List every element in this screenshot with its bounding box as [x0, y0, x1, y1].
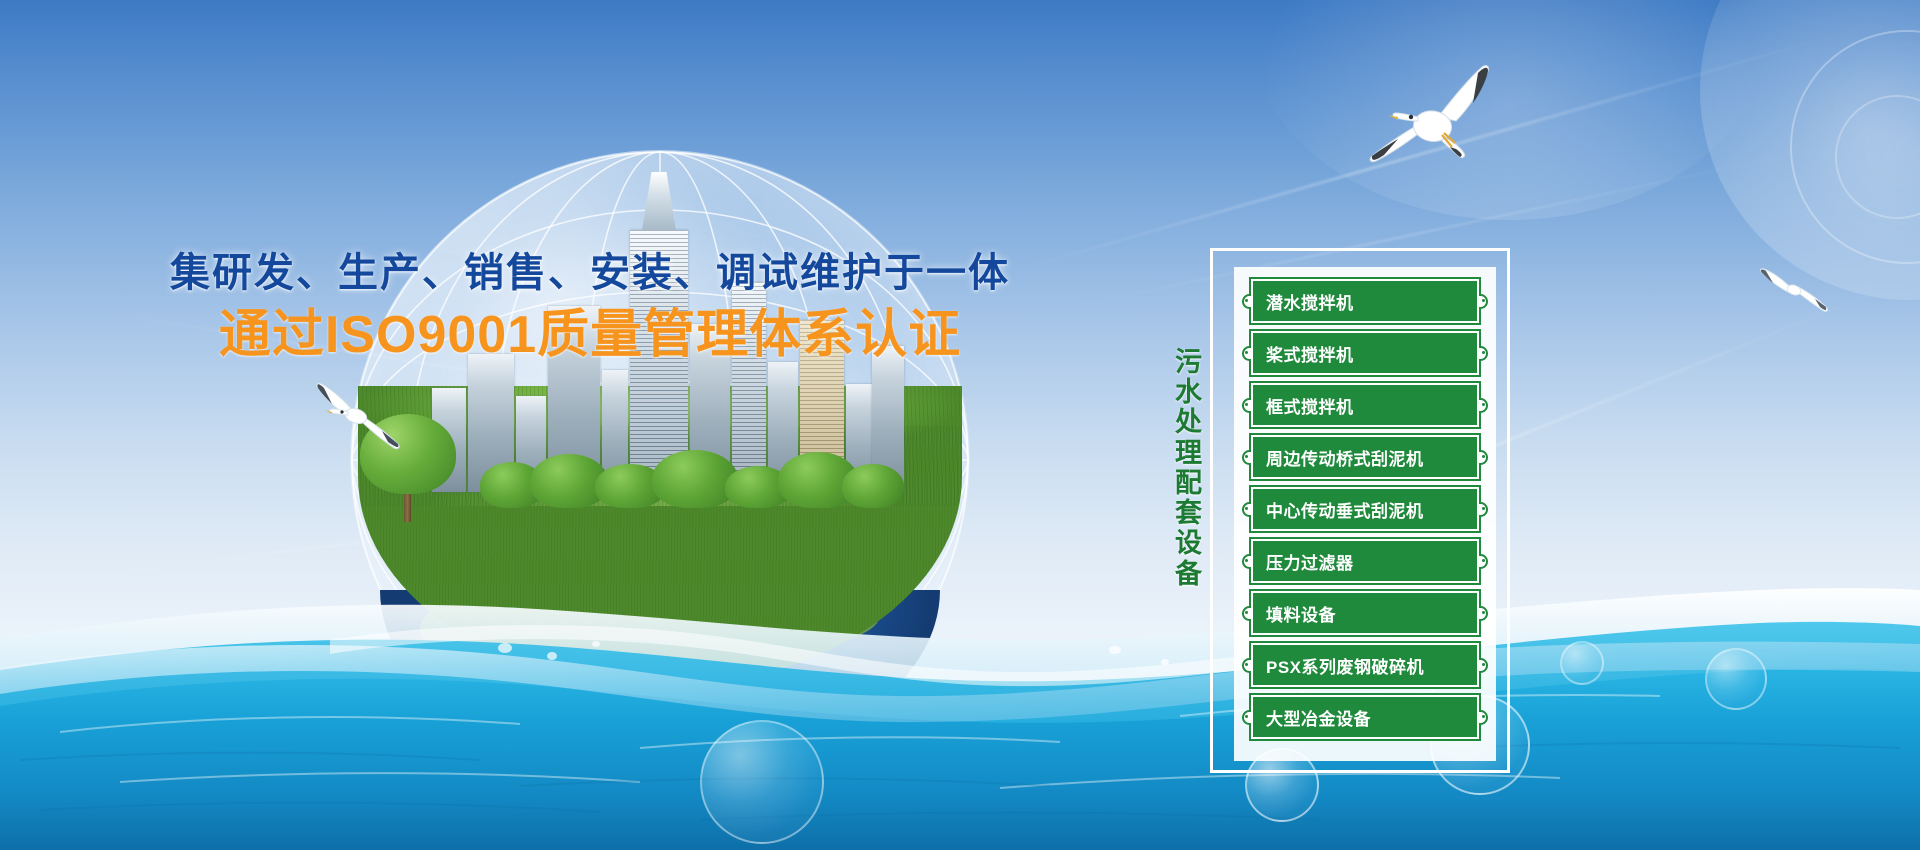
tab-notch-left-icon [1242, 710, 1251, 725]
tab-notch-left-icon [1242, 346, 1251, 361]
headline-line-1: 集研发、生产、销售、安装、调试维护于一体 [0, 248, 1180, 298]
tab-notch-left-icon [1242, 450, 1251, 465]
tab-notch-left-icon [1242, 294, 1251, 309]
menu-item-label: 填料设备 [1266, 601, 1336, 626]
seagull-icon [310, 378, 410, 458]
tab-notch-right-icon [1479, 710, 1488, 725]
sky-glow-decor [1250, 0, 1770, 220]
menu-item-frame-mixer[interactable]: 框式搅拌机 [1251, 383, 1479, 427]
headline-block: 集研发、生产、销售、安装、调试维护于一体 通过ISO9001质量管理体系认证 [0, 248, 1180, 367]
tab-notch-right-icon [1479, 294, 1488, 309]
menu-item-packing-equipment[interactable]: 填料设备 [1251, 591, 1479, 635]
treeline-graphic [390, 438, 930, 508]
menu-item-label: 中心传动垂式刮泥机 [1266, 497, 1424, 522]
seagull-icon [1360, 55, 1510, 180]
tab-notch-left-icon [1242, 606, 1251, 621]
product-category-panel: 污 水 处 理 配 套 设 备 潜水搅拌机 桨式搅拌机 框式搅拌机 [1210, 248, 1510, 773]
menu-item-center-drive-scraper[interactable]: 中心传动垂式刮泥机 [1251, 487, 1479, 531]
menu-item-label: 压力过滤器 [1266, 549, 1354, 574]
lens-ring-small-decor [1835, 95, 1920, 219]
tab-notch-right-icon [1479, 554, 1488, 569]
tab-notch-left-icon [1242, 398, 1251, 413]
lens-flare-decor [1700, 0, 1920, 300]
menu-item-paddle-mixer[interactable]: 桨式搅拌机 [1251, 331, 1479, 375]
promo-banner: 集研发、生产、销售、安装、调试维护于一体 通过ISO9001质量管理体系认证 [0, 0, 1920, 850]
menu-item-label: 大型冶金设备 [1266, 705, 1371, 730]
tab-notch-right-icon [1479, 450, 1488, 465]
menu-item-psx-scrap-shredder[interactable]: PSX系列废钢破碎机 [1251, 643, 1479, 687]
menu-item-large-metallurgical-equipment[interactable]: 大型冶金设备 [1251, 695, 1479, 739]
menu-item-label: 潜水搅拌机 [1266, 289, 1354, 314]
seagull-icon [1758, 265, 1830, 315]
menu-item-pressure-filter[interactable]: 压力过滤器 [1251, 539, 1479, 583]
menu-item-peripheral-bridge-scraper[interactable]: 周边传动桥式刮泥机 [1251, 435, 1479, 479]
tab-notch-right-icon [1479, 398, 1488, 413]
tab-notch-right-icon [1479, 606, 1488, 621]
lens-ring-decor [1790, 30, 1920, 264]
tab-notch-right-icon [1479, 658, 1488, 673]
tab-notch-left-icon [1242, 502, 1251, 517]
menu-item-submersible-mixer[interactable]: 潜水搅拌机 [1251, 279, 1479, 323]
menu-item-label: 框式搅拌机 [1266, 393, 1354, 418]
panel-inner-surface: 潜水搅拌机 桨式搅拌机 框式搅拌机 周边传动桥式刮泥机 [1234, 267, 1496, 761]
headline-line-2: 通过ISO9001质量管理体系认证 [0, 304, 1180, 367]
water-wave-graphic [0, 520, 1920, 850]
menu-item-label: PSX系列废钢破碎机 [1266, 653, 1424, 678]
tab-notch-right-icon [1479, 346, 1488, 361]
panel-vertical-title: 污 水 处 理 配 套 设 备 [1171, 347, 1207, 589]
product-menu-list: 潜水搅拌机 桨式搅拌机 框式搅拌机 周边传动桥式刮泥机 [1242, 277, 1488, 741]
menu-item-label: 周边传动桥式刮泥机 [1266, 445, 1424, 470]
tab-notch-right-icon [1479, 502, 1488, 517]
tab-notch-left-icon [1242, 554, 1251, 569]
tab-notch-left-icon [1242, 658, 1251, 673]
menu-item-label: 桨式搅拌机 [1266, 341, 1354, 366]
